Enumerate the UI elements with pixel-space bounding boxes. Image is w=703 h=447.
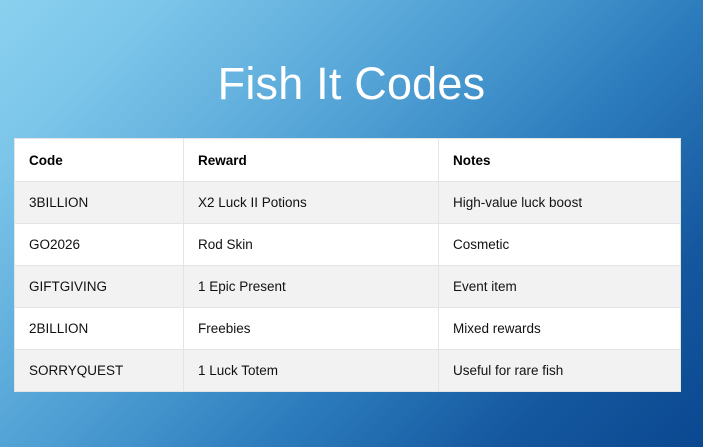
cell-reward: 1 Epic Present: [184, 266, 439, 308]
cell-code: GO2026: [15, 224, 184, 266]
cell-notes: Useful for rare fish: [439, 350, 681, 392]
cell-reward: Rod Skin: [184, 224, 439, 266]
cell-notes: Cosmetic: [439, 224, 681, 266]
codes-table-panel: Code Reward Notes 3BILLION X2 Luck II Po…: [14, 138, 680, 390]
page-title: Fish It Codes: [0, 58, 703, 110]
cell-notes: High-value luck boost: [439, 182, 681, 224]
cell-code: 3BILLION: [15, 182, 184, 224]
column-header-reward: Reward: [184, 139, 439, 182]
table-body: 3BILLION X2 Luck II Potions High-value l…: [15, 182, 681, 392]
cell-code: SORRYQUEST: [15, 350, 184, 392]
table-row: GO2026 Rod Skin Cosmetic: [15, 224, 681, 266]
cell-notes: Mixed rewards: [439, 308, 681, 350]
table-header: Code Reward Notes: [15, 139, 681, 182]
table-row: 2BILLION Freebies Mixed rewards: [15, 308, 681, 350]
table-row: GIFTGIVING 1 Epic Present Event item: [15, 266, 681, 308]
column-header-code: Code: [15, 139, 184, 182]
table-header-row: Code Reward Notes: [15, 139, 681, 182]
slide-canvas: Fish It Codes Code Reward Notes 3BILLION…: [0, 0, 703, 447]
cell-code: 2BILLION: [15, 308, 184, 350]
cell-notes: Event item: [439, 266, 681, 308]
table-row: SORRYQUEST 1 Luck Totem Useful for rare …: [15, 350, 681, 392]
table-row: 3BILLION X2 Luck II Potions High-value l…: [15, 182, 681, 224]
cell-reward: Freebies: [184, 308, 439, 350]
column-header-notes: Notes: [439, 139, 681, 182]
cell-reward: X2 Luck II Potions: [184, 182, 439, 224]
cell-reward: 1 Luck Totem: [184, 350, 439, 392]
codes-table: Code Reward Notes 3BILLION X2 Luck II Po…: [14, 138, 681, 392]
cell-code: GIFTGIVING: [15, 266, 184, 308]
